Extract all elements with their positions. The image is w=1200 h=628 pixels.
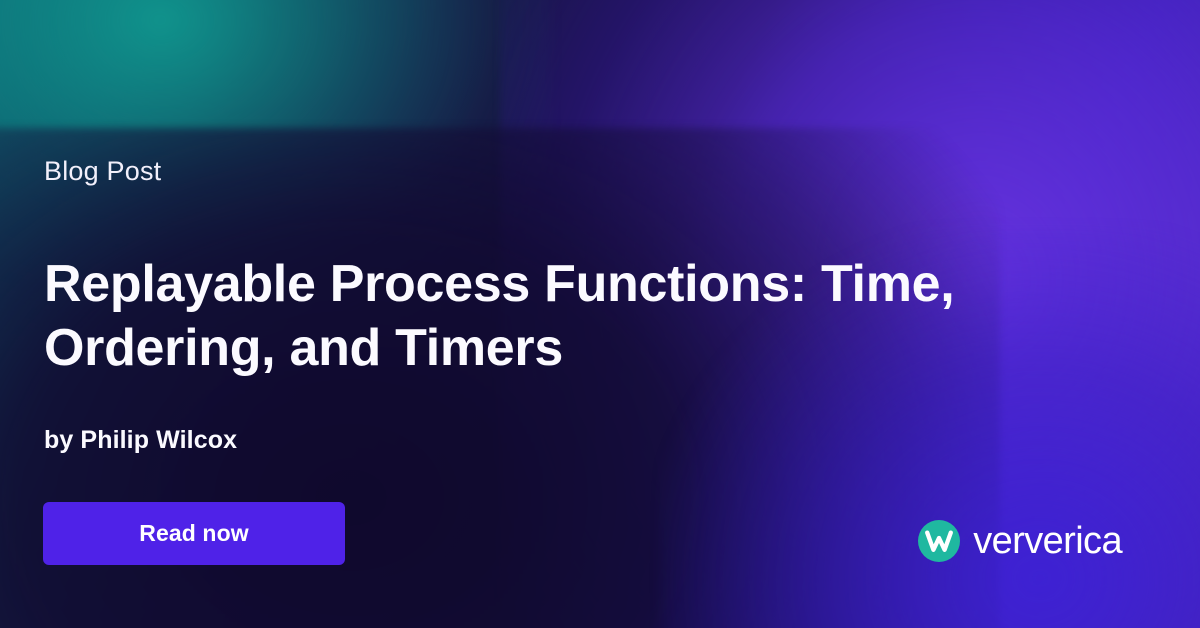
blog-promo-card: Blog Post Replayable Process Functions: … [0,0,1200,628]
card-content: Blog Post Replayable Process Functions: … [0,0,1200,628]
brand-wordmark: ververica [973,522,1122,560]
content-type-label: Blog Post [44,158,161,185]
author-byline: by Philip Wilcox [44,428,237,453]
brand-logo[interactable]: ververica [918,516,1122,566]
page-title: Replayable Process Functions: Time, Orde… [44,252,1044,381]
read-now-button[interactable]: Read now [43,502,345,565]
ververica-logo-mark-icon [918,520,960,562]
